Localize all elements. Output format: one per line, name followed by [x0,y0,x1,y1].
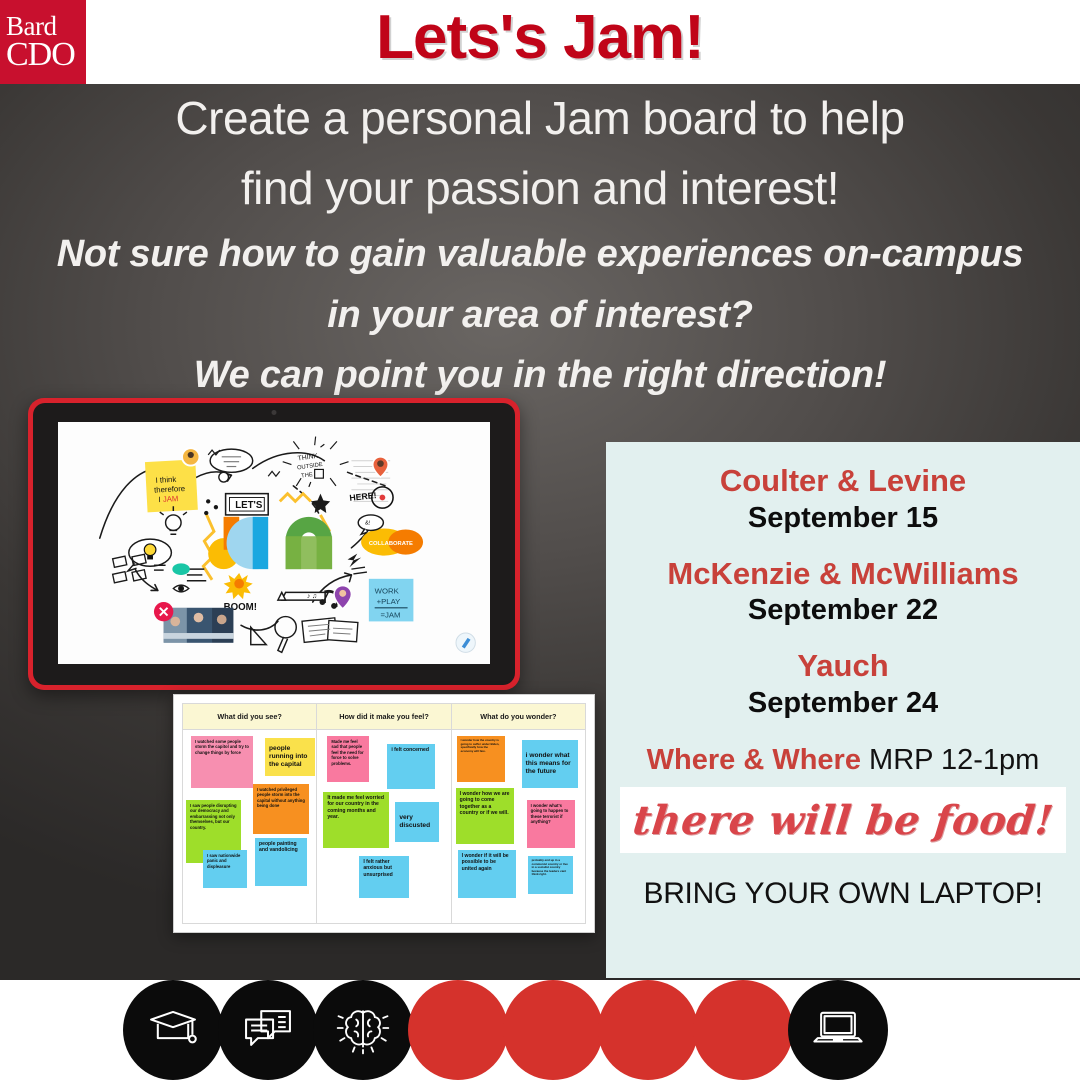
sticky-note[interactable]: It made me feel worried for our country … [323,792,389,848]
session-name: Coulter & Levine [606,462,1080,500]
icon-bubble-2 [218,980,318,1080]
svg-text:&!: &! [365,521,371,527]
brain-icon [336,1001,390,1060]
session-entry: McKenzie & McWilliamsSeptember 22 [606,555,1080,631]
icon-bubble-7 [693,980,793,1080]
icon-bubble-6 [598,980,698,1080]
tablet-screen: I think therefore I JAM [58,422,490,664]
svg-text:LET'S: LET'S [235,500,263,511]
session-list: Coulter & LevineSeptember 15McKenzie & M… [606,462,1080,723]
svg-text:therefore: therefore [154,484,185,495]
tablet-bezel: I think therefore I JAM [33,403,515,685]
svg-text:COLLABORATE: COLLABORATE [369,541,413,547]
sticky-note[interactable]: I saw nationwide panic and displeasure [203,850,247,888]
svg-text:I JAM: I JAM [158,494,178,504]
board-column: How did it make you feel?Made me feel sa… [317,704,451,923]
graduation-cap-icon [146,1001,200,1060]
photo-thumbnail [164,608,234,643]
board-column: What did you see?I watched some people s… [183,704,317,923]
icon-bubble-5 [503,980,603,1080]
where-value: MRP 12-1pm [869,744,1039,776]
speech-bubbles-icon [241,1001,295,1060]
sticky-note[interactable]: Made me feel sad that people feel the ne… [327,736,369,782]
where-and-when-line: Where & Where MRP 12-1pm [606,743,1080,778]
session-date: September 22 [606,592,1080,630]
jam-doodle-illustration: I think therefore I JAM [58,422,490,664]
sticky-note[interactable]: I wonder what's going to happen to these… [527,800,575,848]
poster-root: Bard CDO Lets's Jam! Create a personal J… [0,0,1080,1080]
food-text: there will be food! [630,797,1055,844]
sticky-i-think: I think therefore I JAM [145,459,198,512]
session-name: McKenzie & McWilliams [606,555,1080,593]
svg-text:I think: I think [155,475,176,485]
sticky-note[interactable]: i wonder what this means for the future [522,740,578,788]
icon-strip [0,980,1080,1080]
icon-bubble-3 [313,980,413,1080]
sticky-note[interactable]: I wonder if it will be possible to be un… [458,850,516,898]
svg-text:WORK: WORK [375,586,400,595]
svg-text:=JAM: =JAM [380,611,400,620]
headline-line-2: find your passion and interest! [0,154,1080,224]
sticky-note[interactable]: I felt rather anxious but unsurprised [359,856,409,898]
sticky-note[interactable]: people running into the capital [265,738,315,776]
board-column: What do you wonder?I wonder how the coun… [452,704,585,923]
sticky-note-board: What did you see?I watched some people s… [173,694,595,933]
board-column-header: What do you wonder? [452,704,585,730]
board-note-area: I wonder how the country is going to suf… [452,730,585,923]
jam-logo [208,517,332,569]
headline-block: Create a personal Jam board to help find… [0,84,1080,406]
food-banner: there will be food! [620,787,1066,853]
board-note-area: Made me feel sad that people feel the ne… [317,730,450,923]
board-column-header: What did you see? [183,704,316,730]
sticky-note[interactable]: very discusted [395,802,439,842]
sticky-note[interactable]: I watched some people storm the capitol … [191,736,253,788]
info-panel: Coulter & LevineSeptember 15McKenzie & M… [606,442,1080,978]
board-columns: What did you see?I watched some people s… [182,703,586,924]
session-name: Yauch [606,647,1080,685]
session-date: September 15 [606,500,1080,538]
sticky-note[interactable]: I watched privileged people storm into t… [253,784,309,834]
header-strip: Bard CDO Lets's Jam! [0,0,1080,84]
camera-icon [272,410,277,415]
board-note-area: I watched some people storm the capitol … [183,730,316,923]
icon-bubble-4 [408,980,508,1080]
svg-text:+PLAY: +PLAY [377,597,401,606]
headline-line-4: in your area of interest? [0,285,1080,346]
svg-text:THINK: THINK [297,453,319,463]
svg-text:THE: THE [301,472,313,480]
icon-bubble-1 [123,980,223,1080]
sticky-note[interactable]: i felt concerned [387,744,435,789]
icon-bubble-8 [788,980,888,1080]
session-date: September 24 [606,685,1080,723]
svg-text:♪ ♫: ♪ ♫ [307,593,317,600]
session-entry: YauchSeptember 24 [606,647,1080,723]
sticky-note[interactable]: probably end up in a communist country o… [528,856,573,894]
collaborate-blobs: COLLABORATE [361,528,423,555]
jamboard-tablet: I think therefore I JAM [28,398,520,690]
session-entry: Coulter & LevineSeptember 15 [606,462,1080,538]
sticky-work-play-jam: WORK +PLAY =JAM [369,579,414,622]
board-column-header: How did it make you feel? [317,704,450,730]
sticky-note[interactable]: I wonder how we are going to come togeth… [456,788,514,844]
page-title: Lets's Jam! [0,2,1080,73]
bring-laptop-note: BRING YOUR OWN LAPTOP! [606,877,1080,911]
headline-line-1: Create a personal Jam board to help [0,84,1080,154]
sticky-note[interactable]: people painting and vandolicing [255,838,307,886]
sticky-note[interactable]: I wonder how the country is going to suf… [457,736,505,782]
headline-line-3: Not sure how to gain valuable experience… [0,224,1080,285]
where-label: Where & Where [647,744,861,776]
laptop-icon [811,1001,865,1060]
